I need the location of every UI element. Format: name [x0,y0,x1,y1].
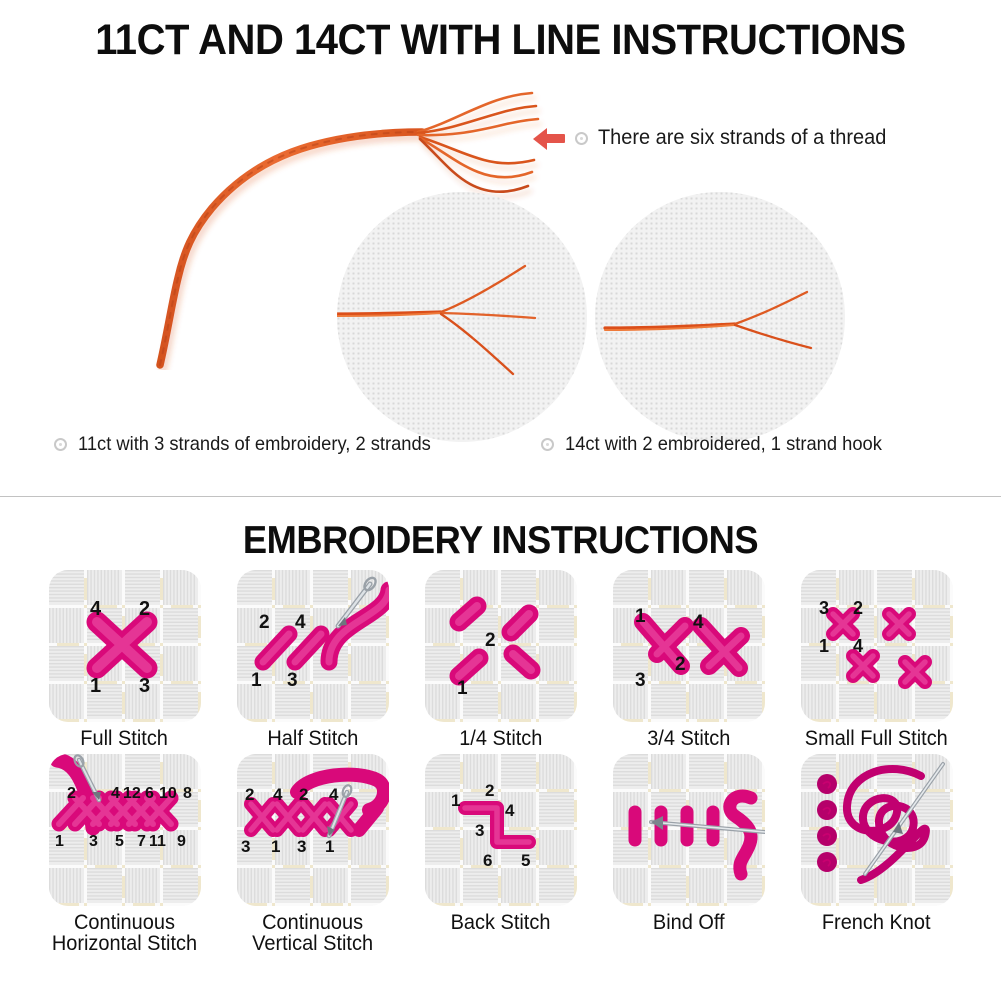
ring-bullet-icon [54,438,67,451]
svg-text:4: 4 [329,785,339,804]
caption-11ct-text: 11ct with 3 strands of embroidery, 2 str… [78,433,431,456]
stitch-cell-french-knot: French Knot [792,754,962,955]
stitch-label: 1/4 Stitch [459,728,542,750]
stitch-cell-continuous-vertical: 24 24 31 31 Continuous Vertical Stitch [228,754,398,955]
svg-text:2: 2 [259,612,270,633]
svg-text:5: 5 [521,851,530,870]
svg-text:1: 1 [325,837,334,856]
stitch-diagram-french-knot [801,754,953,906]
svg-text:1: 1 [271,837,280,856]
stitch-cell-back-stitch: 124 365 Back Stitch [416,754,586,955]
svg-text:2: 2 [67,785,76,802]
caption-14ct-text: 14ct with 2 embroidered, 1 strand hook [565,433,882,456]
svg-text:4: 4 [111,785,120,802]
stitch-cell-half-stitch: 24 13 Half Stitch [228,570,398,750]
stitch-diagram-continuous-vertical: 24 24 31 31 [237,754,389,906]
svg-text:2: 2 [675,654,686,675]
embroidery-section-title: EMBROIDERY INSTRUCTIONS [35,519,966,563]
page-title: 11CT AND 14CT WITH LINE INSTRUCTIONS [35,16,966,65]
stitch-cell-full-stitch: 42 13 Full Stitch [40,570,210,750]
thread-note-row: There are six strands of a thread [533,126,902,150]
stitch-label: Continuous Vertical Stitch [252,912,373,955]
stitch-row-2: 2412 6108 135 7119 Continuous Horizontal… [0,754,1001,955]
ring-bullet-icon [575,132,588,145]
stitch-cell-small-full-stitch: 32 14 Small Full Stitch [792,570,962,750]
svg-text:6: 6 [483,851,492,870]
svg-text:3: 3 [297,837,306,856]
svg-text:3: 3 [287,670,298,691]
stitch-label: Back Stitch [451,912,551,934]
stitch-label: French Knot [822,912,931,934]
svg-text:1: 1 [457,678,468,699]
stitch-cell-continuous-horizontal: 2412 6108 135 7119 Continuous Horizontal… [40,754,210,955]
svg-text:3: 3 [475,821,484,840]
svg-text:2: 2 [139,598,150,620]
stitch-label: Full Stitch [81,728,169,750]
stitch-grid: 42 13 Full Stitch [0,570,1001,959]
svg-text:1: 1 [451,791,460,810]
svg-text:5: 5 [115,833,124,850]
svg-text:11: 11 [149,833,166,850]
svg-text:2: 2 [853,598,863,618]
svg-text:2: 2 [485,781,494,800]
11ct-fabric-swatch [337,192,587,442]
embroidery-instructions-section: EMBROIDERY INSTRUCTIONS [0,498,1001,1001]
caption-11ct: 11ct with 3 strands of embroidery, 2 str… [54,433,453,456]
svg-text:6: 6 [145,785,154,802]
stitch-diagram-small-full-stitch: 32 14 [801,570,953,722]
svg-text:2: 2 [299,785,308,804]
svg-text:4: 4 [505,801,515,820]
stitch-diagram-continuous-horizontal: 2412 6108 135 7119 [49,754,201,906]
svg-text:8: 8 [183,785,192,802]
ring-bullet-icon [541,438,554,451]
svg-text:2: 2 [245,785,254,804]
svg-text:3: 3 [635,670,646,691]
stitch-label: Bind Off [653,912,725,934]
stitch-row-1: 42 13 Full Stitch [0,570,1001,750]
svg-text:1: 1 [819,636,829,656]
stitch-diagram-half-stitch: 24 13 [237,570,389,722]
svg-text:3: 3 [139,675,150,697]
stitch-diagram-back-stitch: 124 365 [425,754,577,906]
section-divider [0,496,1001,497]
stitch-cell-bind-off: Bind Off [604,754,774,955]
svg-text:4: 4 [273,785,283,804]
svg-text:7: 7 [137,833,146,850]
stitch-diagram-bind-off [613,754,765,906]
svg-text:3: 3 [819,598,829,618]
thread-note-text: There are six strands of a thread [598,126,886,150]
svg-text:1: 1 [90,675,101,697]
stitch-label: 3/4 Stitch [647,728,730,750]
stitch-label: Small Full Stitch [805,728,948,750]
svg-text:3: 3 [241,837,250,856]
svg-text:9: 9 [177,833,186,850]
stitch-diagram-quarter-stitch: 21 [425,570,577,722]
fabric-captions: 11ct with 3 strands of embroidery, 2 str… [0,433,1001,463]
stitch-diagram-three-quarter-stitch: 14 23 [613,570,765,722]
svg-text:12: 12 [123,785,141,802]
stitch-label: Half Stitch [267,728,358,750]
svg-text:4: 4 [693,612,704,633]
svg-text:1: 1 [635,606,646,627]
stitch-diagram-full-stitch: 42 13 [49,570,201,722]
svg-text:4: 4 [853,636,863,656]
svg-text:1: 1 [251,670,262,691]
14ct-fabric-swatch [595,192,845,442]
stitch-label: Continuous Horizontal Stitch [52,912,197,955]
arrow-left-icon [533,127,565,149]
caption-14ct: 14ct with 2 embroidered, 1 strand hook [541,433,902,456]
svg-text:1: 1 [55,833,64,850]
svg-text:10: 10 [159,785,177,802]
stitch-cell-three-quarter-stitch: 14 23 3/4 Stitch [604,570,774,750]
svg-text:4: 4 [90,598,102,620]
svg-text:4: 4 [295,612,306,633]
svg-text:3: 3 [89,833,98,850]
stitch-cell-quarter-stitch: 21 1/4 Stitch [416,570,586,750]
svg-text:2: 2 [485,630,496,651]
line-instructions-section: 11CT AND 14CT WITH LINE INSTRUCTIONS [0,0,1001,497]
